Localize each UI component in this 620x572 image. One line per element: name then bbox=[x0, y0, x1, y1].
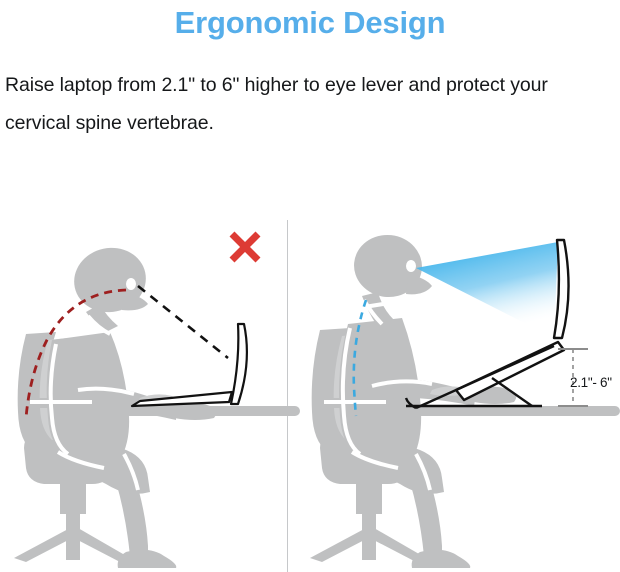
height-dimension-label: 2.1"- 6" bbox=[570, 375, 612, 390]
panel-incorrect-posture bbox=[0, 212, 300, 572]
sight-cone bbox=[416, 242, 558, 338]
page-title: Ergonomic Design bbox=[0, 2, 620, 44]
correct-posture-illustration bbox=[296, 212, 620, 572]
laptop-flat bbox=[132, 324, 247, 406]
comparison-panels bbox=[0, 212, 620, 572]
page-subtitle: Raise laptop from 2.1" to 6" higher to e… bbox=[5, 66, 617, 142]
ergonomic-design-infographic: Ergonomic Design Raise laptop from 2.1" … bbox=[0, 0, 620, 572]
eye bbox=[406, 260, 416, 272]
x-mark-icon bbox=[228, 230, 262, 264]
panel-correct-posture bbox=[296, 212, 596, 572]
desk-surface bbox=[96, 406, 300, 416]
desk-surface bbox=[390, 406, 620, 416]
sight-line bbox=[138, 286, 228, 358]
eye bbox=[126, 278, 136, 290]
incorrect-posture-illustration bbox=[0, 212, 300, 572]
